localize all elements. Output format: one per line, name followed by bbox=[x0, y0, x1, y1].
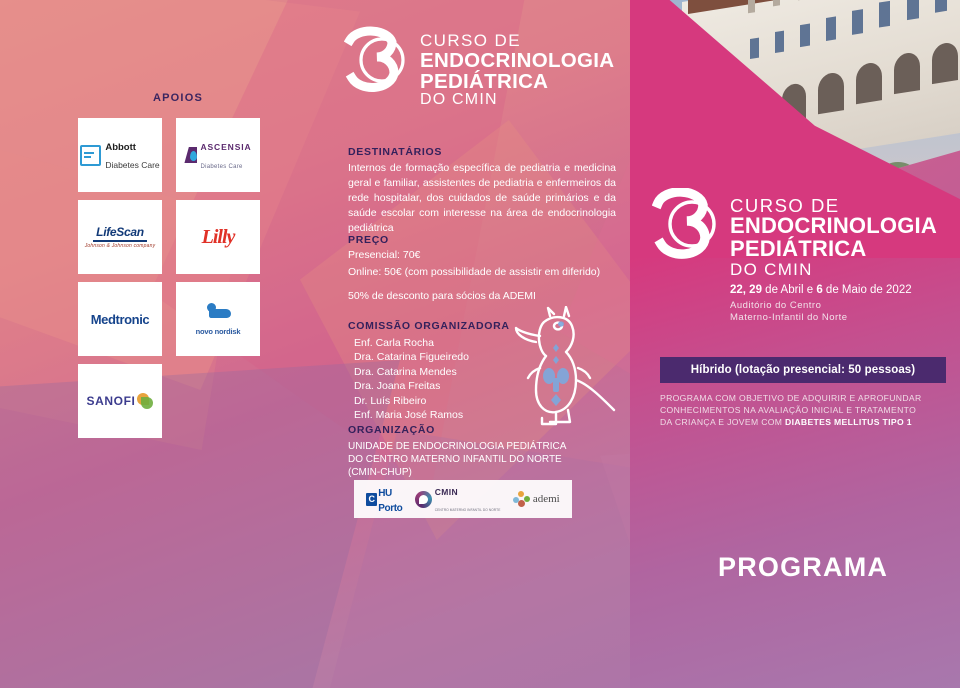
desc-emphasis: DIABETES MELLITUS TIPO 1 bbox=[785, 417, 912, 427]
numeral-three-icon bbox=[344, 26, 406, 106]
venue-line-1: Auditório do Centro bbox=[730, 300, 937, 312]
section-organizacao: ORGANIZAÇÃO UNIDADE DE ENDOCRINOLOGIA PE… bbox=[348, 424, 598, 480]
sanofi-icon bbox=[137, 393, 153, 409]
org-name-line2: CENTRO MATERNO INFANTIL DO NORTE bbox=[435, 508, 501, 512]
org-logo-ademi: ademi bbox=[513, 491, 560, 507]
sponsor-name: ASCENSIA bbox=[200, 142, 251, 152]
venue-line-2: Materno-Infantil do Norte bbox=[730, 312, 937, 324]
price-presencial: Presencial: 70€ bbox=[348, 248, 628, 263]
cmin-icon bbox=[415, 491, 432, 508]
ademi-icon bbox=[513, 491, 531, 507]
brand-line-1: CURSO DE bbox=[420, 32, 614, 50]
format-badge: Híbrido (lotação presencial: 50 pessoas) bbox=[660, 357, 946, 383]
price-online: Online: 50€ (com possibilidade de assist… bbox=[348, 265, 628, 280]
brand-line-2: ENDOCRINOLOGIA bbox=[730, 215, 937, 238]
sponsor-name: Abbott bbox=[105, 142, 136, 153]
sponsor-logo-ascensia: ASCENSIA Diabetes Care bbox=[176, 118, 260, 192]
date-tail: de Maio de 2022 bbox=[823, 284, 912, 296]
sponsors-heading: APOIOS bbox=[78, 92, 278, 104]
venue: Auditório do Centro Materno-Infantil do … bbox=[730, 300, 937, 325]
section-heading: PREÇO bbox=[348, 234, 628, 246]
org-logo-cmin: CMIN CENTRO MATERNO INFANTIL DO NORTE bbox=[415, 483, 501, 515]
sponsor-logo-lifescan: LifeScan Johnson & Johnson company bbox=[78, 200, 162, 274]
brand-lockup: CURSO DE ENDOCRINOLOGIA PEDIÁTRICA DO CM… bbox=[344, 26, 614, 109]
section-heading: DESTINATÁRIOS bbox=[348, 146, 616, 158]
section-discount: 50% de desconto para sócios da ADEMI bbox=[348, 286, 628, 304]
sponsor-logo-medtronic: Medtronic bbox=[78, 282, 162, 356]
sponsor-logo-lilly: Lilly bbox=[176, 200, 260, 274]
desc-line-2: CONHECIMENTOS NA AVALIAÇÃO INICIAL E TRA… bbox=[660, 404, 950, 416]
bg-shard bbox=[0, 360, 400, 688]
desc-line-3: DA CRIANÇA E JOVEM COM DIABETES MELLITUS… bbox=[660, 416, 950, 428]
desc-line-1: PROGRAMA COM OBJETIVO DE ADQUIRIR E APRO… bbox=[660, 392, 950, 404]
badge-label: Híbrido (lotação presencial: 50 pessoas) bbox=[691, 364, 916, 376]
org-name-line1: HU bbox=[378, 488, 392, 499]
right-brand-lockup: CURSO DE ENDOCRINOLOGIA PEDIÁTRICA DO CM… bbox=[652, 188, 937, 324]
sponsor-logo-sanofi: SANOFI bbox=[78, 364, 162, 438]
brand-line-4: DO CMIN bbox=[730, 261, 937, 279]
section-body: Internos de formação específica de pedia… bbox=[348, 161, 616, 236]
org-line-3: (CMIN-CHUP) bbox=[348, 466, 598, 479]
abbott-icon bbox=[80, 145, 101, 166]
kangaroo-mascot-icon bbox=[492, 306, 620, 432]
discount-text: 50% de desconto para sócios da ADEMI bbox=[348, 290, 536, 302]
sponsor-tagline: Diabetes Care bbox=[105, 160, 159, 170]
sponsor-name: LifeScan bbox=[85, 225, 156, 239]
event-date: 22, 29 de Abril e 6 de Maio de 2022 bbox=[730, 285, 937, 297]
brand-line-2: ENDOCRINOLOGIA bbox=[420, 50, 614, 71]
section-preco: PREÇO Presencial: 70€ Online: 50€ (com p… bbox=[348, 234, 628, 280]
sponsor-name: Medtronic bbox=[91, 312, 150, 327]
brand-line-3: PEDIÁTRICA bbox=[420, 71, 614, 92]
bull-icon bbox=[203, 303, 233, 325]
numeral-three-icon bbox=[652, 188, 718, 274]
desc-line-3-text: DA CRIANÇA E JOVEM COM bbox=[660, 417, 785, 427]
org-line-2: DO CENTRO MATERNO INFANTIL DO NORTE bbox=[348, 453, 598, 466]
ascensia-icon bbox=[184, 147, 197, 163]
sponsor-name: SANOFI bbox=[87, 394, 136, 408]
brand-line-3: PEDIÁTRICA bbox=[730, 238, 937, 261]
org-name-line1: ademi bbox=[533, 493, 560, 505]
org-logo-chu-porto: C HU Porto bbox=[366, 484, 402, 514]
sponsor-tagline: Johnson & Johnson company bbox=[85, 243, 156, 249]
sponsor-logo-novo-nordisk: novo nordisk bbox=[176, 282, 260, 356]
program-description: PROGRAMA COM OBJETIVO DE ADQUIRIR E APRO… bbox=[660, 392, 950, 429]
date-days: 22, 29 bbox=[730, 284, 762, 296]
section-destinatarios: DESTINATÁRIOS Internos de formação espec… bbox=[348, 146, 616, 236]
sponsor-name: Lilly bbox=[202, 226, 235, 249]
organization-logo-bar: C HU Porto CMIN CENTRO MATERNO INFANTIL … bbox=[354, 480, 572, 518]
org-line-1: UNIDADE DE ENDOCRINOLOGIA PEDIÁTRICA bbox=[348, 440, 598, 453]
sponsor-tagline: Diabetes Care bbox=[200, 164, 242, 170]
programa-title: PROGRAMA bbox=[718, 552, 888, 583]
poster-canvas: APOIOS Abbott Diabetes Care ASCENSIA Dia… bbox=[0, 0, 960, 688]
brand-line-4: DO CMIN bbox=[420, 92, 614, 109]
org-name-line2: Porto bbox=[378, 503, 402, 514]
divider bbox=[93, 240, 147, 242]
sponsor-logo-abbott: Abbott Diabetes Care bbox=[78, 118, 162, 192]
chu-mark: C bbox=[366, 493, 377, 506]
org-name-line1: CMIN bbox=[435, 487, 458, 497]
date-mid: de Abril e bbox=[762, 284, 816, 296]
sponsor-name: novo nordisk bbox=[196, 327, 241, 336]
